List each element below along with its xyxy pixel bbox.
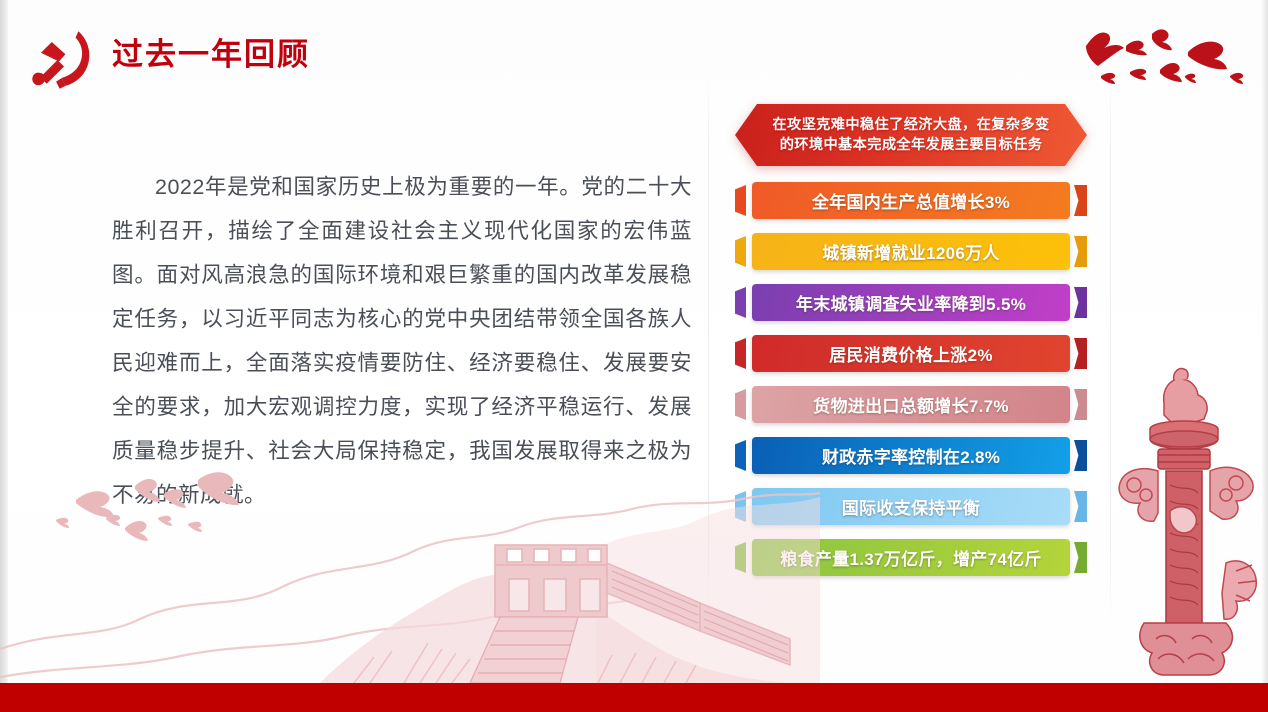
metric-pill: 全年国内生产总值增长3% bbox=[735, 182, 1087, 219]
metric-pill: 国际收支保持平衡 bbox=[735, 488, 1087, 525]
slide-header: 过去一年回顾 bbox=[0, 0, 1268, 100]
slide-canvas: 过去一年回顾 2022年是党和国家历史上极为重要的一年。党的二十大胜利召开，描绘… bbox=[0, 0, 1268, 712]
metric-pill: 货物进出口总额增长7.7% bbox=[735, 386, 1087, 423]
pill-left-cap bbox=[735, 389, 746, 420]
pill-left-cap bbox=[735, 440, 746, 471]
pill-label: 财政赤字率控制在2.8% bbox=[752, 437, 1070, 474]
pill-left-cap bbox=[735, 338, 746, 369]
flying-birds-icon bbox=[1068, 18, 1258, 102]
banner-text: 在攻坚克难中稳住了经济大盘，在复杂多变 的环境中基本完成全年发展主要目标任务 bbox=[735, 104, 1087, 166]
pill-right-cap bbox=[1074, 389, 1087, 420]
pill-label: 全年国内生产总值增长3% bbox=[752, 182, 1070, 219]
pill-left-cap bbox=[735, 236, 746, 267]
panel-headline-banner: 在攻坚克难中稳住了经济大盘，在复杂多变 的环境中基本完成全年发展主要目标任务 bbox=[735, 104, 1087, 166]
slide-left-edge bbox=[0, 0, 8, 683]
review-paragraph: 2022年是党和国家历史上极为重要的一年。党的二十大胜利召开，描绘了全面建设社会… bbox=[112, 165, 692, 517]
column-divider-right bbox=[1110, 78, 1111, 623]
pill-left-cap bbox=[735, 542, 746, 573]
pill-left-cap bbox=[735, 287, 746, 318]
pill-label: 货物进出口总额增长7.7% bbox=[752, 386, 1070, 423]
huabiao-column-illustration-icon bbox=[1096, 353, 1268, 683]
pill-right-cap bbox=[1074, 287, 1087, 318]
metric-pill: 粮食产量1.37万亿斤，增产74亿斤 bbox=[735, 539, 1087, 576]
pill-label: 城镇新增就业1206万人 bbox=[752, 233, 1070, 270]
pill-label: 粮食产量1.37万亿斤，增产74亿斤 bbox=[752, 539, 1070, 576]
achievements-panel: 在攻坚克难中稳住了经济大盘，在复杂多变 的环境中基本完成全年发展主要目标任务 全… bbox=[735, 104, 1087, 590]
metric-pill: 城镇新增就业1206万人 bbox=[735, 233, 1087, 270]
pill-right-cap bbox=[1074, 542, 1087, 573]
pill-right-cap bbox=[1074, 338, 1087, 369]
pill-left-cap bbox=[735, 185, 746, 216]
pill-label: 居民消费价格上涨2% bbox=[752, 335, 1070, 372]
pill-label: 年末城镇调查失业率降到5.5% bbox=[752, 284, 1070, 321]
column-divider-left bbox=[708, 78, 709, 623]
bottom-accent-bar bbox=[0, 683, 1268, 712]
cpc-hammer-sickle-emblem-icon bbox=[28, 24, 100, 96]
metric-pill: 居民消费价格上涨2% bbox=[735, 335, 1087, 372]
banner-line-1: 在攻坚克难中稳住了经济大盘，在复杂多变 bbox=[772, 115, 1049, 135]
pill-label: 国际收支保持平衡 bbox=[752, 488, 1070, 525]
metric-pill-list: 全年国内生产总值增长3%城镇新增就业1206万人年末城镇调查失业率降到5.5%居… bbox=[735, 182, 1087, 576]
pill-left-cap bbox=[735, 491, 746, 522]
pill-right-cap bbox=[1074, 491, 1087, 522]
metric-pill: 年末城镇调查失业率降到5.5% bbox=[735, 284, 1087, 321]
pill-right-cap bbox=[1074, 440, 1087, 471]
slide-right-edge bbox=[1262, 0, 1268, 683]
page-title: 过去一年回顾 bbox=[112, 34, 310, 76]
banner-line-2: 的环境中基本完成全年发展主要目标任务 bbox=[780, 135, 1043, 155]
pill-right-cap bbox=[1074, 185, 1087, 216]
pill-right-cap bbox=[1074, 236, 1087, 267]
metric-pill: 财政赤字率控制在2.8% bbox=[735, 437, 1087, 474]
